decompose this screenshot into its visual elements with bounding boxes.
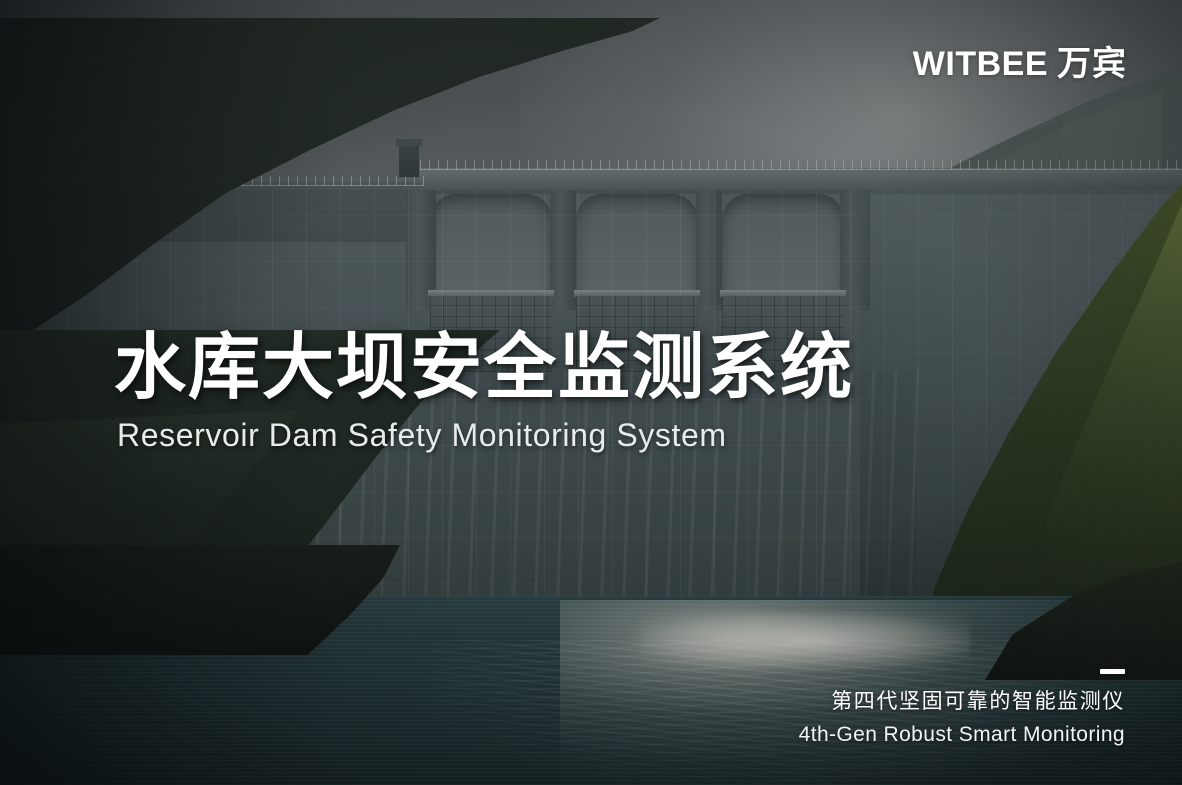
tagline-dash-accent <box>1100 669 1125 674</box>
page-title: 水库大坝安全监测系统 <box>114 330 854 406</box>
tagline-block: 第四代坚固可靠的智能监测仪 4th-Gen Robust Smart Monit… <box>799 669 1125 749</box>
logo-wordmark-cn: 万宾 <box>1057 45 1127 83</box>
page-subtitle: Reservoir Dam Safety Monitoring System <box>117 418 854 453</box>
poster-slide: WITBEE万宾 水库大坝安全监测系统 Reservoir Dam Safety… <box>0 0 1182 785</box>
tagline-cn: 第四代坚固可靠的智能监测仪 <box>799 688 1125 716</box>
logo-wordmark-en: WITBEE <box>913 45 1048 83</box>
tagline-en: 4th-Gen Robust Smart Monitoring <box>799 721 1125 749</box>
witbee-logo: WITBEE万宾 <box>913 47 1127 81</box>
hero-title-block: 水库大坝安全监测系统 Reservoir Dam Safety Monitori… <box>114 330 854 454</box>
